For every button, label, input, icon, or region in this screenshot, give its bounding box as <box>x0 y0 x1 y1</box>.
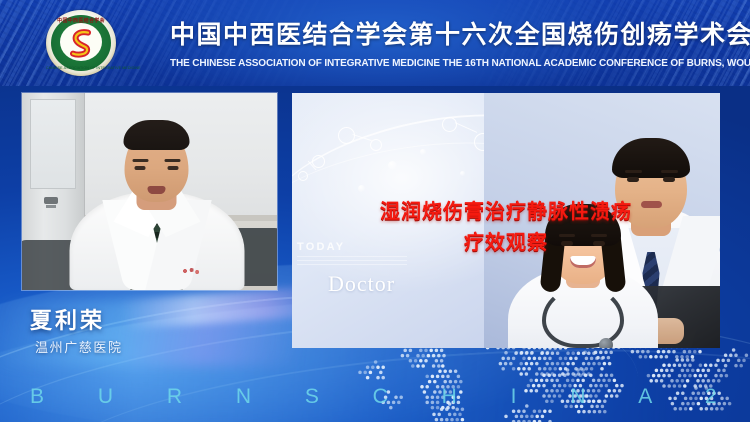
slide-watermark-doctor: Doctor <box>328 271 395 297</box>
presenter-brow-right <box>165 159 181 162</box>
presenter-eye-right <box>168 166 179 170</box>
presenter-mouth <box>148 186 166 194</box>
slide-molecule-node-3 <box>442 117 457 132</box>
emblem-top-text: 中国中西医结合学会 <box>46 17 116 24</box>
slide-title-text: 湿润烧伤膏治疗静脉性溃疡 疗效观察 <box>292 197 720 259</box>
broadcast-stage: 中国中西医结合学会 CHINESE ASSOCIATION OF INTEGRA… <box>0 0 750 422</box>
slide-bubble-4 <box>460 171 465 176</box>
conference-header-banner: 中国中西医结合学会 CHINESE ASSOCIATION OF INTEGRA… <box>0 0 750 86</box>
video-presenter-figure <box>69 140 244 290</box>
slide-molecule-node-6 <box>298 171 308 181</box>
presenter-eye-left <box>135 166 146 170</box>
slide-molecule-node-2 <box>370 139 382 151</box>
male-doctor-brow-left <box>625 170 642 173</box>
stethoscope-bell-icon <box>599 338 613 348</box>
speaker-video-panel[interactable] <box>22 93 277 290</box>
presentation-slide-panel[interactable]: TODAY Doctor <box>292 93 720 348</box>
speaker-name-label: 夏利荣 <box>30 303 105 335</box>
footer-wordmark: B U R N S C H I N A 2 0 2 0 <box>30 382 730 412</box>
association-emblem-icon: 中国中西医结合学会 CHINESE ASSOCIATION OF INTEGRA… <box>46 10 116 76</box>
emblem-s-mark-icon <box>68 29 94 59</box>
male-doctor-brow-right <box>661 170 678 173</box>
male-doctor-eye-right <box>663 177 675 182</box>
slide-bubble-2 <box>420 149 426 155</box>
male-doctor-eye-left <box>627 177 639 182</box>
video-door-lock-icon <box>44 197 58 204</box>
male-doctor-hair <box>612 138 690 178</box>
slide-title-line-1: 湿润烧伤膏治疗静脉性溃疡 <box>380 201 632 223</box>
conference-title-chinese: 中国中西医结合学会第十六次全国烧伤创疡学术会议 <box>170 18 740 52</box>
slide-bubble-3 <box>358 185 365 192</box>
conference-title-english: THE CHINESE ASSOCIATION OF INTEGRATIVE M… <box>170 56 733 71</box>
slide-title-line-2: 疗效观察 <box>292 228 720 259</box>
presenter-brow-left <box>133 159 149 162</box>
slide-bubble-1 <box>388 161 397 170</box>
stethoscope-icon <box>542 286 624 348</box>
speaker-organization-label: 温州广慈医院 <box>35 337 123 356</box>
presenter-pocket-pens <box>178 266 200 276</box>
presenter-hair <box>124 120 190 150</box>
emblem-bottom-text: CHINESE ASSOCIATION OF INTEGRATIVE MEDIC… <box>46 66 116 70</box>
